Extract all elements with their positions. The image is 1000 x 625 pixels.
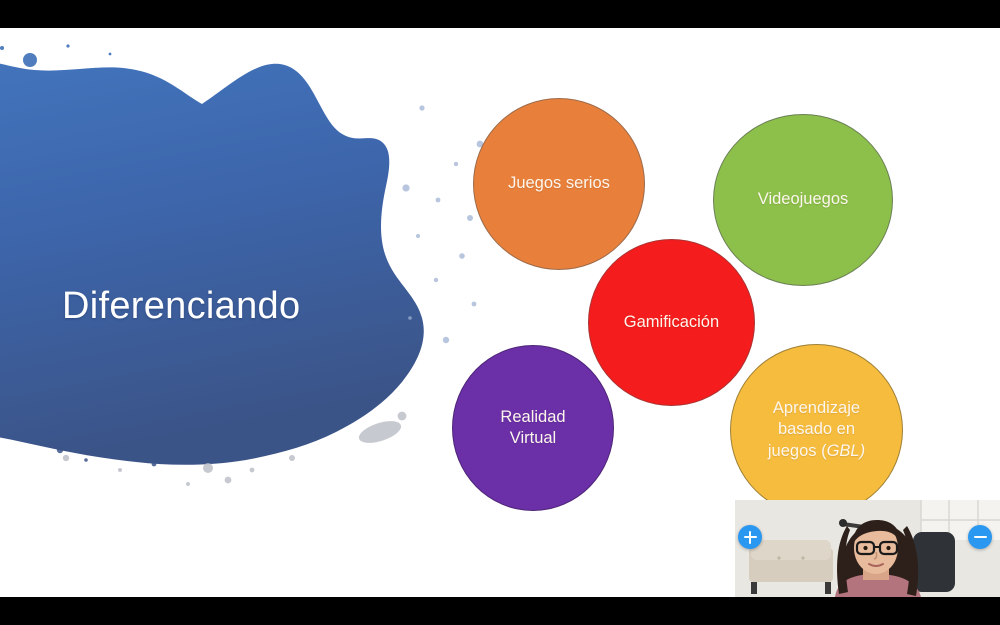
bubble-aprendizaje-basado-en-juegos[interactable]: Aprendizaje basado en juegos (GBL) bbox=[730, 344, 903, 516]
presentation-viewer[interactable]: Diferenciando Juegos serios Videojuegos … bbox=[0, 0, 1000, 625]
page-title: Diferenciando bbox=[62, 286, 422, 328]
bubble-label-line2: Virtual bbox=[510, 429, 556, 447]
blue-paint-splash bbox=[0, 28, 500, 538]
letterbox-top bbox=[0, 0, 1000, 28]
bubble-label-line1: Realidad bbox=[500, 408, 565, 426]
bubble-label: Videojuegos bbox=[721, 189, 885, 210]
bubble-label: Realidad Virtual bbox=[459, 407, 606, 449]
bubble-label: Juegos serios bbox=[481, 173, 637, 194]
minus-icon bbox=[974, 531, 987, 544]
bubble-label-acronym: GBL) bbox=[827, 442, 866, 460]
bubble-gamificacion[interactable]: Gamificación bbox=[588, 239, 755, 406]
bubble-label: Aprendizaje basado en juegos (GBL) bbox=[738, 398, 895, 461]
bubble-label-line1: Aprendizaje bbox=[773, 399, 860, 417]
zoom-out-button[interactable] bbox=[968, 525, 992, 549]
letterbox-bottom bbox=[0, 597, 1000, 625]
bubble-label-line2: basado en bbox=[778, 420, 855, 438]
bubble-realidad-virtual[interactable]: Realidad Virtual bbox=[452, 345, 614, 511]
plus-icon bbox=[744, 531, 757, 544]
bubble-label: Gamificación bbox=[596, 312, 748, 333]
webcam-overlay[interactable] bbox=[735, 500, 1000, 597]
bubble-label-line3: juegos ( bbox=[768, 442, 827, 460]
bubble-videojuegos[interactable]: Videojuegos bbox=[713, 114, 893, 286]
bubble-juegos-serios[interactable]: Juegos serios bbox=[473, 98, 645, 270]
zoom-in-button[interactable] bbox=[738, 525, 762, 549]
